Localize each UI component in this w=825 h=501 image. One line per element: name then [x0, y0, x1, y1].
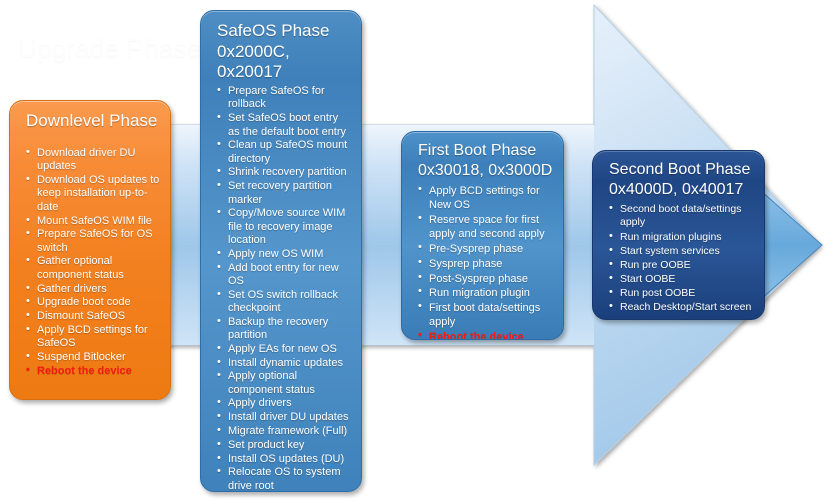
phase-step: Migrate framework (Full)	[215, 425, 351, 438]
phase-step: Apply optional component status	[215, 370, 351, 397]
phase-title: SafeOS Phase	[217, 21, 351, 41]
phase-error-codes: 0x30018, 0x3000D	[418, 162, 553, 181]
phase-step: First boot data/settings apply	[416, 301, 553, 330]
phase-step: Second boot data/settings apply	[607, 203, 754, 230]
phase-step: Post-Sysprep phase	[416, 272, 553, 286]
phase-card-safeos[interactable]: SafeOS Phase 0x2000C, 0x20017 Prepare Sa…	[200, 10, 362, 492]
phase-step: Start OOBE	[607, 273, 754, 287]
phase-step: Dismount SafeOS	[24, 310, 160, 323]
phase-step: Copy/Move source WIM file to recovery im…	[215, 207, 351, 247]
phase-error-codes: 0x4000D, 0x40017	[609, 181, 754, 200]
phase-step: Run migration plugins	[607, 231, 754, 245]
phase-step: Download OS updates to keep installation…	[24, 174, 160, 214]
phase-step: Apply BCD settings for SafeOS	[24, 324, 160, 351]
phase-step: Gather optional component status	[24, 255, 160, 282]
phase-card-second-boot[interactable]: Second Boot Phase 0x4000D, 0x40017 Secon…	[592, 150, 765, 320]
phase-step: Apply drivers	[215, 397, 351, 410]
phase-step: Sysprep phase	[416, 257, 553, 271]
phase-step-list: Download driver DU updatesDownload OS up…	[22, 147, 160, 378]
phase-error-codes: 0x2000C, 0x20017	[217, 42, 351, 82]
phase-step: Run pre OOBE	[607, 259, 754, 273]
phase-step-list: Prepare SafeOS for rollbackSet SafeOS bo…	[213, 85, 351, 492]
phase-step: Set SafeOS boot entry as the default boo…	[215, 112, 351, 139]
phase-step: Upgrade boot code	[24, 296, 160, 309]
phase-step: Set OS switch rollback checkpoint	[215, 289, 351, 316]
phase-step: Install OS updates (DU)	[215, 453, 351, 466]
phase-title: First Boot Phase	[418, 142, 553, 161]
phase-step: Clean up SafeOS mount directory	[215, 139, 351, 166]
phase-card-first-boot[interactable]: First Boot Phase 0x30018, 0x3000D Apply …	[401, 131, 564, 340]
phase-step-reboot: Reboot the device	[416, 330, 553, 340]
phase-step: Apply EAs for new OS	[215, 343, 351, 356]
phase-step: Install dynamic updates	[215, 357, 351, 370]
phase-step: Shrink recovery partition	[215, 166, 351, 179]
phase-step: Pre-Sysprep phase	[416, 242, 553, 256]
phase-card-downlevel[interactable]: Downlevel Phase Download driver DU updat…	[9, 100, 171, 400]
phase-step: Apply BCD settings for New OS	[416, 184, 553, 213]
phase-step: Backup the recovery partition	[215, 316, 351, 343]
phase-step-reboot: Reboot the device	[24, 365, 160, 378]
phase-step: Prepare SafeOS for OS switch	[24, 228, 160, 255]
phase-step-list: Apply BCD settings for New OSReserve spa…	[414, 184, 553, 340]
phase-title: Second Boot Phase	[609, 161, 754, 180]
phase-step: Install driver DU updates	[215, 411, 351, 424]
phase-step: Download driver DU updates	[24, 147, 160, 174]
phase-step: Suspend Bitlocker	[24, 351, 160, 364]
phase-step: Run post OOBE	[607, 287, 754, 301]
phase-step: Set recovery partition marker	[215, 180, 351, 207]
phase-step: Run migration plugin	[416, 286, 553, 300]
phase-step: Add boot entry for new OS	[215, 262, 351, 289]
phase-step-list: Second boot data/settings applyRun migra…	[605, 203, 754, 315]
phase-title: Downlevel Phase	[26, 111, 160, 131]
phase-step: Set product key	[215, 439, 351, 452]
phase-step: Gather drivers	[24, 283, 160, 296]
phase-step: Reserve space for first apply and second…	[416, 213, 553, 242]
arrow-tip-accent	[760, 190, 822, 300]
phase-step: Reach Desktop/Start screen	[607, 301, 754, 315]
phase-step: Apply new OS WIM	[215, 248, 351, 261]
phase-step: Start system services	[607, 245, 754, 259]
phase-step: Relocate OS to system drive root	[215, 466, 351, 492]
phase-step: Prepare SafeOS for rollback	[215, 85, 351, 112]
diagram-canvas: Upgrade Phases	[0, 0, 825, 501]
phase-step: Mount SafeOS WIM file	[24, 215, 160, 228]
